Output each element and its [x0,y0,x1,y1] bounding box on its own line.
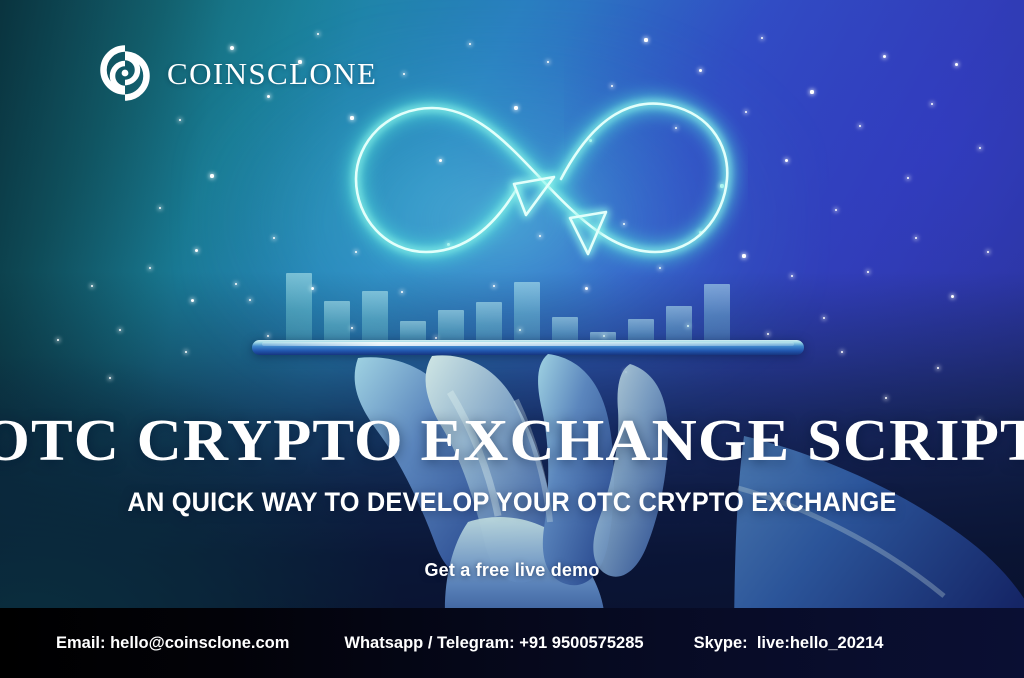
star-particle [791,275,794,278]
star-particle [810,90,813,93]
contact-email[interactable]: Email: hello@coinsclone.com [56,634,289,653]
star-particle [149,267,152,270]
star-particle [547,61,550,64]
promo-banner: COINSCLONE OTC CRYPTO EXCHANGE SCRIPT AN… [0,0,1024,678]
star-particle [767,333,770,336]
star-particle [785,159,788,162]
coinsclone-concentric-rings-icon [97,45,153,101]
contact-skype[interactable]: Skype: live:hello_20214 [694,634,884,653]
star-particle [859,125,862,128]
cta-label[interactable]: Get a free live demo [0,561,1024,579]
star-particle [273,237,276,240]
star-particle [841,351,843,353]
star-particle [159,207,162,210]
infinity-exchange-loop-icon [318,72,748,287]
star-particle [210,174,213,177]
contact-whatsapp-telegram[interactable]: Whatsapp / Telegram: +91 9500575285 [344,634,643,653]
star-particle [823,317,826,320]
star-particle [235,283,238,286]
star-particle [57,339,59,341]
tablet-sheen [262,342,794,346]
star-particle [931,103,934,106]
star-particle [937,367,940,370]
star-particle [915,237,918,240]
star-particle [907,177,910,180]
page-subtitle: AN QUICK WAY TO DEVELOP YOUR OTC CRYPTO … [31,489,994,516]
brand-name: COINSCLONE [167,58,377,89]
star-particle [644,38,647,41]
page-title: OTC CRYPTO EXCHANGE SCRIPT [0,411,1024,470]
star-particle [195,249,198,252]
star-particle [267,335,270,338]
star-particle [185,351,188,354]
brand-logo[interactable]: COINSCLONE [97,45,377,101]
star-particle [955,63,958,66]
star-particle [191,299,194,302]
star-particle [979,147,982,150]
star-particle [91,285,93,287]
star-particle [317,33,320,36]
star-particle [987,251,990,254]
star-particle [179,119,182,122]
star-particle [867,271,870,274]
star-particle [109,377,112,380]
star-particle [761,37,764,40]
star-particle [249,299,252,302]
star-particle [951,295,954,298]
star-particle [885,397,888,400]
star-particle [883,55,886,58]
star-particle [469,43,472,46]
star-particle [835,209,838,212]
contact-bar: Email: hello@coinsclone.com Whatsapp / T… [0,608,1024,678]
star-particle [119,329,122,332]
